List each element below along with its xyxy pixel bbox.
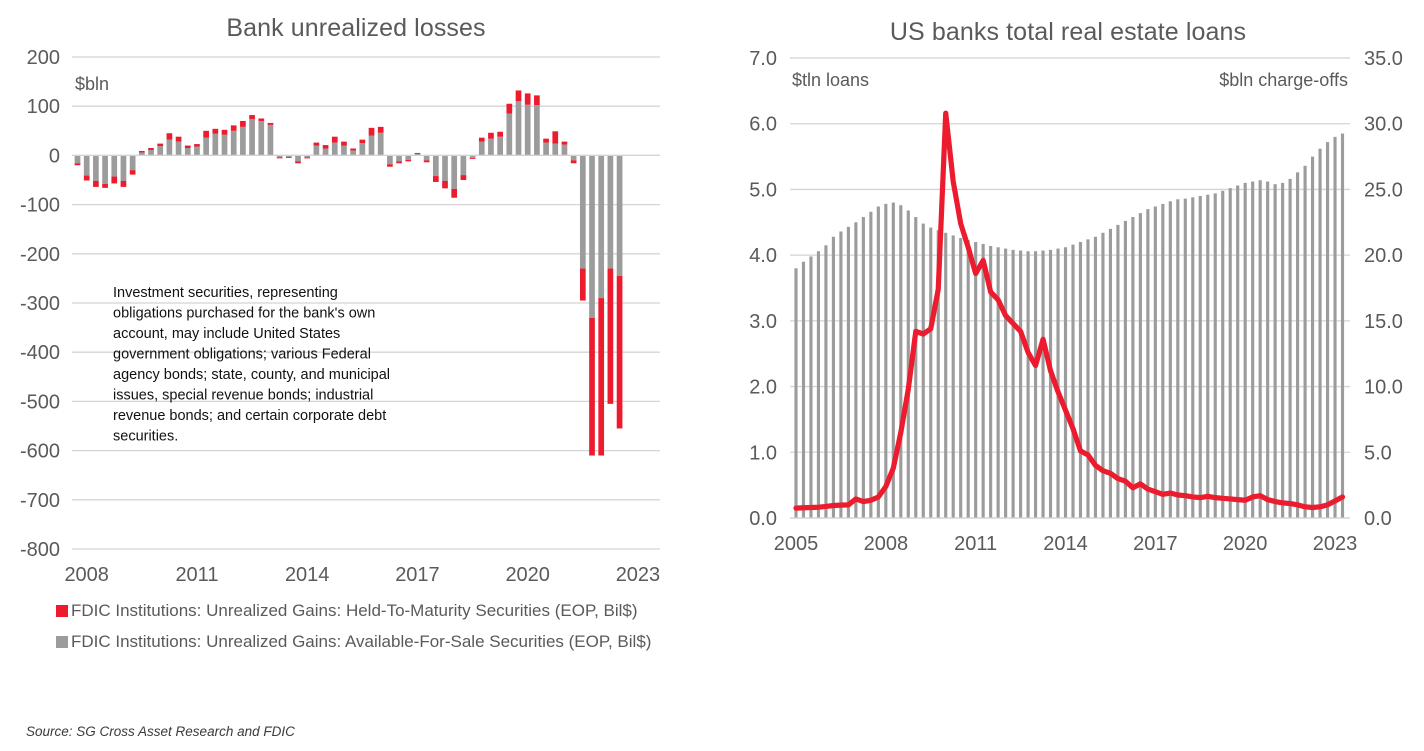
- bar-segment-afs: [562, 145, 568, 156]
- x-tick-label: 2011: [954, 533, 997, 555]
- loans-bar: [1326, 142, 1329, 518]
- bar-segment-afs: [589, 155, 595, 317]
- loans-bar: [1086, 239, 1089, 518]
- bar-segment-afs: [378, 133, 384, 156]
- x-tick-label: 2014: [285, 564, 330, 586]
- loans-bar: [1229, 188, 1232, 518]
- bar-segment-afs: [194, 147, 200, 156]
- bar-segment-afs: [258, 121, 264, 155]
- loans-bar: [832, 237, 835, 518]
- annotation-line: government obligations; various Federal: [113, 347, 371, 363]
- bar-segment-htm: [470, 158, 476, 159]
- bar-segment-afs: [506, 114, 512, 156]
- loans-bar: [1161, 204, 1164, 518]
- bar-segment-afs: [534, 105, 540, 155]
- loans-bar: [1139, 213, 1142, 518]
- loans-bar: [794, 268, 797, 518]
- loans-bar: [982, 244, 985, 518]
- loans-bar: [1027, 251, 1030, 518]
- bank-unrealized-losses-chart: 2001000-100-200-300-400-500-600-700-8002…: [0, 0, 712, 600]
- bar-segment-htm: [396, 161, 402, 163]
- loans-bar: [884, 204, 887, 518]
- y-tick-label: -500: [20, 391, 60, 413]
- bar-segment-afs: [543, 143, 549, 156]
- loans-bar: [1244, 183, 1247, 518]
- loans-bar: [1071, 245, 1074, 518]
- bar-segment-htm: [405, 160, 411, 161]
- bar-segment-htm: [543, 139, 549, 143]
- x-tick-label: 2005: [774, 533, 819, 555]
- x-tick-label: 2020: [1223, 533, 1268, 555]
- y-tick-label-right: 5.0: [1364, 442, 1392, 464]
- bar-segment-htm: [93, 181, 99, 187]
- bar-segment-htm: [461, 175, 467, 180]
- bar-segment-htm: [130, 170, 136, 174]
- loans-bar: [959, 238, 962, 518]
- bar-segment-htm: [424, 160, 430, 162]
- bar-segment-afs: [102, 155, 108, 184]
- bar-segment-afs: [249, 119, 255, 155]
- annotation-line: Investment securities, representing: [113, 285, 338, 301]
- y-tick-label-left: 6.0: [749, 114, 777, 136]
- bar-segment-htm: [121, 181, 127, 187]
- loans-bar: [1154, 207, 1157, 518]
- legend-swatch-red-square: [56, 605, 68, 617]
- bar-segment-htm: [369, 128, 375, 136]
- bar-segment-htm: [185, 146, 191, 148]
- bar-segment-afs: [185, 148, 191, 155]
- loans-bar: [944, 233, 947, 518]
- bar-segment-htm: [102, 184, 108, 188]
- loans-bar: [877, 207, 880, 518]
- annotation-line: securities.: [113, 429, 178, 445]
- loans-bar: [854, 222, 857, 518]
- bar-segment-htm: [598, 298, 604, 455]
- legend-swatch-gray-square: [56, 636, 68, 648]
- bar-segment-afs: [157, 146, 163, 155]
- bar-segment-htm: [378, 127, 384, 133]
- loans-bar: [1304, 166, 1307, 518]
- loans-bar: [1221, 191, 1224, 518]
- y-tick-label-left: 2.0: [749, 377, 777, 399]
- y-tick-label-left: 5.0: [749, 179, 777, 201]
- x-tick-label: 2008: [64, 564, 109, 586]
- annotation-line: agency bonds; state, county, and municip…: [113, 367, 390, 383]
- y-tick-label-left: 4.0: [749, 245, 777, 267]
- bar-segment-afs: [608, 155, 614, 268]
- bar-segment-htm: [194, 144, 200, 146]
- loans-bar: [1191, 197, 1194, 518]
- bar-segment-afs: [580, 155, 586, 268]
- bar-segment-htm: [222, 130, 228, 135]
- bar-segment-afs: [497, 137, 503, 156]
- bar-segment-htm: [488, 133, 494, 139]
- x-tick-label: 2023: [616, 564, 661, 586]
- bar-segment-afs: [121, 155, 127, 181]
- x-tick-label: 2020: [505, 564, 550, 586]
- bar-segment-afs: [93, 155, 99, 181]
- bar-segment-htm: [479, 138, 485, 142]
- bar-segment-htm: [84, 176, 90, 181]
- bar-segment-htm: [231, 125, 237, 130]
- x-tick-label: 2023: [1313, 533, 1358, 555]
- loans-bar: [1281, 183, 1284, 518]
- bar-segment-htm: [212, 129, 218, 134]
- bar-segment-htm: [534, 95, 540, 105]
- bar-segment-afs: [552, 144, 558, 156]
- bar-segment-htm: [268, 123, 274, 125]
- bar-segment-afs: [176, 142, 182, 156]
- y-tick-label: 0: [49, 145, 60, 167]
- loans-bar: [922, 224, 925, 518]
- loans-bar: [1131, 217, 1134, 518]
- loans-bar: [1079, 242, 1082, 518]
- loans-bar: [1146, 209, 1149, 518]
- bar-segment-afs: [442, 155, 448, 181]
- y-tick-label: -400: [20, 342, 60, 364]
- bar-segment-afs: [451, 155, 457, 188]
- bar-segment-afs: [516, 101, 522, 155]
- bar-segment-htm: [525, 93, 531, 104]
- bar-segment-htm: [359, 140, 365, 143]
- bar-segment-afs: [323, 149, 329, 156]
- bar-segment-afs: [212, 134, 218, 156]
- loans-bar: [1116, 225, 1119, 518]
- bar-segment-htm: [167, 133, 173, 139]
- bar-segment-htm: [562, 142, 568, 145]
- loans-bar: [952, 235, 955, 518]
- loans-bar: [1289, 179, 1292, 518]
- loans-bar: [1259, 180, 1262, 518]
- loans-bar: [809, 256, 812, 518]
- bar-segment-htm: [176, 137, 182, 142]
- loans-bar: [862, 217, 865, 518]
- bar-segment-htm: [240, 121, 246, 127]
- bar-segment-htm: [323, 145, 329, 148]
- bar-segment-htm: [442, 181, 448, 188]
- loans-bar: [1124, 221, 1127, 518]
- loans-bar: [1318, 149, 1321, 518]
- bar-segment-afs: [525, 105, 531, 156]
- loans-bar: [802, 262, 805, 518]
- bar-segment-afs: [111, 155, 117, 176]
- y-tick-label: -300: [20, 293, 60, 315]
- bar-segment-htm: [249, 115, 255, 119]
- loans-bar: [1004, 249, 1007, 518]
- bar-segment-afs: [350, 150, 356, 155]
- bar-segment-afs: [268, 125, 274, 156]
- bar-segment-afs: [359, 143, 365, 155]
- bar-segment-htm: [617, 276, 623, 429]
- right-chart-panel: US banks total real estate loans 7.06.05…: [712, 0, 1424, 751]
- bar-segment-afs: [203, 138, 209, 156]
- x-tick-label: 2008: [864, 533, 909, 555]
- bar-segment-afs: [341, 146, 347, 156]
- bar-segment-htm: [497, 132, 503, 137]
- bar-segment-htm: [139, 151, 145, 152]
- bar-segment-htm: [608, 269, 614, 404]
- loans-bar: [1199, 196, 1202, 518]
- legend-left: FDIC Institutions: Unrealized Gains: Hel…: [56, 600, 676, 662]
- bar-segment-htm: [516, 90, 522, 101]
- loans-bar: [839, 231, 842, 518]
- bar-segment-afs: [332, 143, 338, 156]
- bar-segment-afs: [387, 155, 393, 164]
- bar-segment-htm: [433, 176, 439, 182]
- loans-bar: [929, 228, 932, 518]
- loans-bar: [1296, 172, 1299, 518]
- annotation-note: Investment securities, representingoblig…: [113, 285, 390, 445]
- y-tick-label: -100: [20, 195, 60, 217]
- annotation-line: revenue bonds; and certain corporate deb…: [113, 408, 386, 424]
- us-banks-real-estate-loans-chart: 7.06.05.04.03.02.01.00.035.030.025.020.0…: [712, 0, 1424, 600]
- loans-bar: [817, 251, 820, 518]
- y-tick-label-left: 7.0: [749, 48, 777, 70]
- y-tick-label-right: 15.0: [1364, 311, 1403, 333]
- bar-segment-htm: [314, 143, 320, 146]
- bar-segment-afs: [461, 155, 467, 175]
- x-tick-label: 2014: [1043, 533, 1088, 555]
- loans-bar: [1034, 251, 1037, 518]
- y-tick-label-left: 1.0: [749, 442, 777, 464]
- bar-segment-afs: [231, 131, 237, 156]
- y-tick-label: -800: [20, 539, 60, 561]
- loans-bar: [1012, 250, 1015, 518]
- loans-bar: [1064, 247, 1067, 518]
- loans-bar: [1311, 157, 1314, 518]
- loans-bar: [1274, 184, 1277, 518]
- loans-bar: [1266, 182, 1269, 518]
- bar-segment-htm: [203, 131, 209, 138]
- y-tick-label: -700: [20, 490, 60, 512]
- legend-item-afs[interactable]: FDIC Institutions: Unrealized Gains: Ava…: [56, 631, 676, 653]
- bar-segment-htm: [286, 157, 292, 158]
- y-tick-label-left: 0.0: [749, 508, 777, 530]
- loans-bar: [824, 245, 827, 518]
- y-axis-unit-label: $bln: [75, 74, 109, 94]
- bar-segment-afs: [479, 142, 485, 156]
- loans-bar: [847, 227, 850, 518]
- bar-segment-afs: [424, 155, 430, 160]
- bar-segment-afs: [222, 135, 228, 156]
- x-tick-label: 2017: [1133, 533, 1178, 555]
- bar-segment-afs: [84, 155, 90, 175]
- loans-bar: [1176, 199, 1179, 518]
- bar-segment-afs: [167, 140, 173, 156]
- bar-segment-htm: [295, 161, 301, 163]
- bar-segment-afs: [405, 155, 411, 159]
- bar-segment-htm: [451, 189, 457, 198]
- bar-segment-htm: [580, 269, 586, 301]
- y-tick-label: 100: [27, 96, 60, 118]
- loans-bar: [899, 205, 902, 518]
- legend-item-htm[interactable]: FDIC Institutions: Unrealized Gains: Hel…: [56, 600, 676, 622]
- loans-bar: [1214, 193, 1217, 518]
- loans-bar: [1169, 201, 1172, 518]
- legend-label-afs: FDIC Institutions: Unrealized Gains: Ava…: [71, 631, 651, 653]
- y-tick-label-right: 30.0: [1364, 114, 1403, 136]
- annotation-line: issues, special revenue bonds; industria…: [113, 388, 373, 404]
- loans-bar: [967, 240, 970, 518]
- bar-segment-afs: [617, 155, 623, 276]
- bar-segment-afs: [598, 155, 604, 298]
- bar-segment-htm: [148, 148, 154, 150]
- y-tick-label: -600: [20, 441, 60, 463]
- right-axis-unit-label: $bln charge-offs: [1219, 70, 1348, 90]
- loans-bar: [1206, 195, 1209, 518]
- legend-label-htm: FDIC Institutions: Unrealized Gains: Hel…: [71, 600, 638, 622]
- bar-segment-htm: [552, 131, 558, 143]
- bar-segment-afs: [571, 155, 577, 160]
- loans-bar: [997, 247, 1000, 518]
- bar-segment-afs: [295, 155, 301, 161]
- loans-bar: [1341, 134, 1344, 518]
- bar-segment-htm: [387, 164, 393, 166]
- bar-segment-htm: [157, 144, 163, 146]
- y-tick-label: -200: [20, 244, 60, 266]
- y-tick-label-right: 10.0: [1364, 377, 1403, 399]
- bar-segment-htm: [304, 157, 310, 158]
- y-tick-label-right: 35.0: [1364, 48, 1403, 70]
- y-tick-label-right: 25.0: [1364, 179, 1403, 201]
- bar-segment-afs: [130, 155, 136, 170]
- bar-segment-afs: [488, 139, 494, 156]
- bar-segment-htm: [332, 137, 338, 143]
- bar-segment-htm: [415, 153, 421, 154]
- bar-segment-htm: [350, 149, 356, 151]
- loans-bar: [1094, 237, 1097, 518]
- bar-segment-afs: [433, 155, 439, 176]
- loans-bar: [1101, 233, 1104, 518]
- loans-bar: [1019, 251, 1022, 518]
- x-tick-label: 2017: [395, 564, 440, 586]
- loans-bar: [1041, 251, 1044, 518]
- bar-group: [794, 134, 1344, 518]
- bar-segment-afs: [396, 155, 402, 161]
- loans-bar: [1333, 137, 1336, 518]
- y-tick-label-right: 0.0: [1364, 508, 1392, 530]
- left-chart-panel: Bank unrealized losses 2001000-100-200-3…: [0, 0, 712, 751]
- y-tick-label-left: 3.0: [749, 311, 777, 333]
- bar-segment-afs: [240, 127, 246, 156]
- loans-bar: [869, 212, 872, 518]
- bar-segment-htm: [75, 163, 81, 165]
- bar-segment-htm: [506, 104, 512, 114]
- bar-segment-afs: [369, 136, 375, 156]
- loans-bar: [1049, 250, 1052, 518]
- y-tick-label-right: 20.0: [1364, 245, 1403, 267]
- y-tick-label: 200: [27, 47, 60, 69]
- bar-segment-afs: [75, 155, 81, 163]
- bar-segment-htm: [341, 142, 347, 146]
- loans-bar: [1251, 182, 1254, 518]
- loans-bar: [1236, 185, 1239, 518]
- bar-segment-afs: [314, 146, 320, 156]
- loans-bar: [1184, 199, 1187, 518]
- x-tick-label: 2011: [175, 564, 218, 586]
- loans-bar: [974, 242, 977, 518]
- bar-segment-htm: [571, 160, 577, 163]
- annotation-line: account, may include United States: [113, 326, 340, 342]
- bar-segment-afs: [148, 150, 154, 155]
- annotation-line: obligations purchased for the bank's own: [113, 306, 375, 322]
- source-note: Source: SG Cross Asset Research and FDIC: [26, 724, 295, 739]
- left-axis-unit-label: $tln loans: [792, 70, 869, 90]
- bar-segment-htm: [589, 318, 595, 456]
- loans-bar: [914, 217, 917, 518]
- bar-segment-htm: [111, 177, 117, 184]
- bar-segment-htm: [258, 119, 264, 121]
- bar-segment-htm: [277, 157, 283, 158]
